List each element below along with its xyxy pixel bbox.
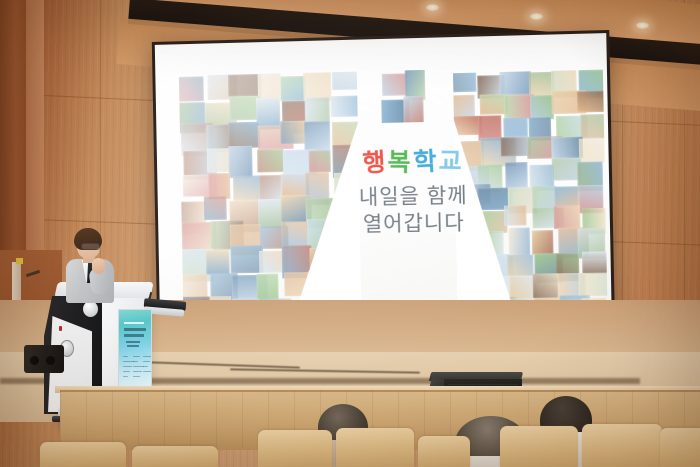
collage-photo-tile <box>206 249 230 275</box>
audience-chair-6[interactable] <box>660 428 700 467</box>
audience-chair-7[interactable] <box>40 442 126 467</box>
collage-photo-tile <box>228 122 260 148</box>
collage-photo-tile <box>204 196 227 221</box>
collage-photo-tile <box>576 90 607 113</box>
podium-indicator-light <box>59 326 62 331</box>
poster-detail-line <box>123 366 132 367</box>
collage-photo-tile <box>282 221 309 248</box>
poster-detail-line <box>133 356 140 357</box>
collage-photo-tile <box>578 138 607 163</box>
poster-detail-line <box>143 366 148 367</box>
slide-logo-char-4: 교 <box>438 149 463 174</box>
poster-detail-line <box>123 371 130 372</box>
downlight-icon-2 <box>530 13 543 20</box>
downlight-icon-3 <box>636 22 649 29</box>
slide-text-block: 행복학교 내일을 함께 열어갑니다 <box>332 149 494 240</box>
equipment-port-2 <box>46 356 55 365</box>
collage-photo-tile <box>256 273 278 302</box>
presenter-hand <box>92 258 105 274</box>
slide-logo-char-2: 복 <box>388 150 412 175</box>
audience-chair-4[interactable] <box>500 426 578 467</box>
collage-photo-tile <box>532 274 558 300</box>
wall-switch-plate[interactable] <box>16 258 23 264</box>
collage-photo-tile <box>500 70 532 96</box>
audience-chair-3[interactable] <box>418 436 470 467</box>
audience-chair-2[interactable] <box>336 428 414 467</box>
collage-photo-tile <box>553 206 580 229</box>
poster-detail-line <box>133 361 138 362</box>
collage-photo-tile <box>228 146 253 178</box>
collage-photo-tile <box>280 120 305 143</box>
poster-text-line <box>124 334 144 337</box>
slide-logo-char-1: 행 <box>362 150 387 176</box>
downlight-icon-1 <box>426 4 439 11</box>
audience-chair-1[interactable] <box>258 430 332 467</box>
collage-photo-tile <box>508 228 530 256</box>
poster-detail-line <box>133 376 140 377</box>
auditorium-photo-scene: 행복학교 내일을 함께 열어갑니다 <box>0 0 700 467</box>
poster-detail-line <box>133 371 142 372</box>
collage-photo-tile <box>308 150 330 172</box>
collage-photo-tile <box>582 252 608 275</box>
projection-screen-surface: 행복학교 내일을 함께 열어갑니다 <box>155 33 612 341</box>
collage-photo-tile <box>503 118 527 138</box>
collage-photo-tile <box>580 114 607 139</box>
collage-photo-tile <box>233 176 261 201</box>
poster-detail-line <box>143 371 152 372</box>
poster-text-line <box>124 328 146 331</box>
slide-collage-top-right <box>381 70 428 123</box>
collage-photo-tile <box>257 149 285 173</box>
audience-chair-8[interactable] <box>132 446 218 467</box>
projection-screen[interactable]: 행복학교 내일을 함께 열어갑니다 <box>152 30 615 344</box>
collage-photo-tile <box>507 254 533 276</box>
slide-logo-char-3: 학 <box>412 149 437 175</box>
collage-photo-tile <box>554 187 579 207</box>
collage-photo-tile <box>331 95 362 117</box>
slide-subtitle-line-2: 열어갑니다 <box>334 210 495 239</box>
poster-text-line <box>126 341 140 343</box>
collage-photo-tile <box>280 76 305 101</box>
collage-photo-tile <box>403 96 424 123</box>
collage-photo-tile <box>579 272 608 296</box>
presenter-person <box>62 228 124 298</box>
audience-chair-5[interactable] <box>582 424 662 467</box>
poster-detail-line <box>143 361 150 362</box>
poster-detail-line <box>123 356 128 357</box>
glasses-icon <box>81 243 100 250</box>
collage-photo-tile <box>332 72 362 90</box>
poster-text-line <box>124 322 144 324</box>
slide-logo-happy-school: 행복학교 <box>332 149 493 177</box>
collage-photo-tile <box>453 72 477 93</box>
equipment-port-1 <box>30 356 39 365</box>
collage-photo-tile <box>179 77 204 102</box>
collage-photo-tile <box>304 121 330 152</box>
podium-event-poster <box>118 309 152 391</box>
slide-subtitle-line-1: 내일을 함께 <box>333 183 494 212</box>
collage-photo-tile <box>208 173 230 199</box>
poster-text-line <box>127 345 139 347</box>
poster-detail-line <box>143 356 152 357</box>
poster-detail-line <box>123 376 128 377</box>
collage-photo-tile <box>504 206 527 227</box>
collage-photo-tile <box>532 230 554 254</box>
